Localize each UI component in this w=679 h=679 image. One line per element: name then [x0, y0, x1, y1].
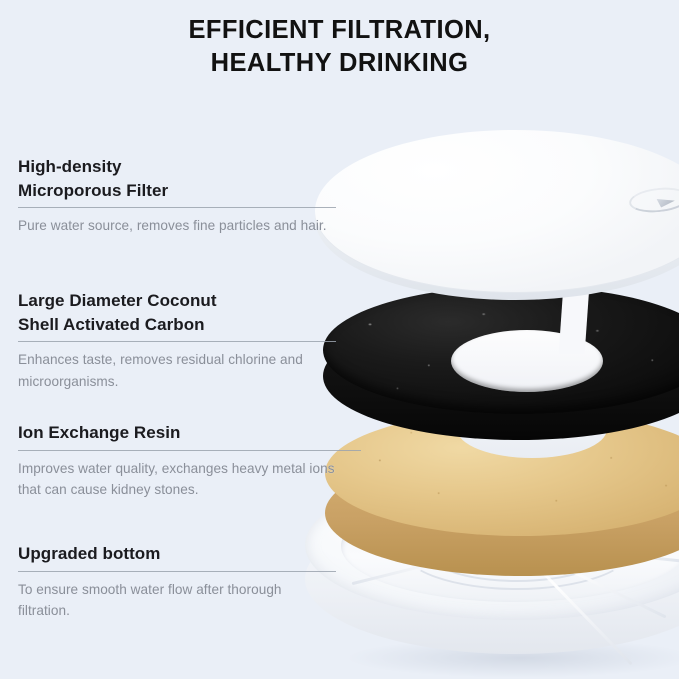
feature-divider — [18, 341, 336, 342]
feature-divider — [18, 207, 336, 208]
feature-block-activated-carbon: Large Diameter Coconut Shell Activated C… — [18, 289, 336, 392]
product-infographic: EFFICIENT FILTRATION, HEALTHY DRINKING — [0, 0, 679, 679]
feature-heading-line-2: Microporous Filter — [18, 181, 168, 200]
feature-heading-line-1: Large Diameter Coconut — [18, 291, 217, 310]
feature-block-upgraded-bottom: Upgraded bottom To ensure smooth water f… — [18, 542, 336, 622]
feature-divider — [18, 571, 336, 572]
feature-heading-line-1: High-density — [18, 157, 122, 176]
feature-heading-line-1: Upgraded bottom — [18, 544, 160, 563]
title-line-1: EFFICIENT FILTRATION, — [0, 14, 679, 47]
feature-block-microporous-filter: High-density Microporous Filter Pure wat… — [18, 155, 336, 237]
feature-divider — [18, 450, 361, 451]
product-exploded-view — [305, 118, 679, 663]
feature-heading: Ion Exchange Resin — [18, 421, 361, 445]
page-title: EFFICIENT FILTRATION, HEALTHY DRINKING — [0, 14, 679, 80]
feature-heading: High-density Microporous Filter — [18, 155, 336, 202]
feature-body: To ensure smooth water flow after thorou… — [18, 579, 336, 622]
feature-heading-line-2: Shell Activated Carbon — [18, 315, 205, 334]
feature-body: Pure water source, removes fine particle… — [18, 215, 336, 237]
feature-body: Enhances taste, removes residual chlorin… — [18, 349, 336, 392]
feature-heading: Large Diameter Coconut Shell Activated C… — [18, 289, 336, 336]
feature-block-ion-exchange-resin: Ion Exchange Resin Improves water qualit… — [18, 421, 361, 501]
title-line-2: HEALTHY DRINKING — [0, 47, 679, 80]
feature-heading: Upgraded bottom — [18, 542, 336, 566]
feature-body: Improves water quality, exchanges heavy … — [18, 458, 361, 501]
microporous-filter-disc — [315, 130, 679, 308]
feature-heading-line-1: Ion Exchange Resin — [18, 423, 180, 442]
activated-carbon-ring — [323, 286, 679, 436]
